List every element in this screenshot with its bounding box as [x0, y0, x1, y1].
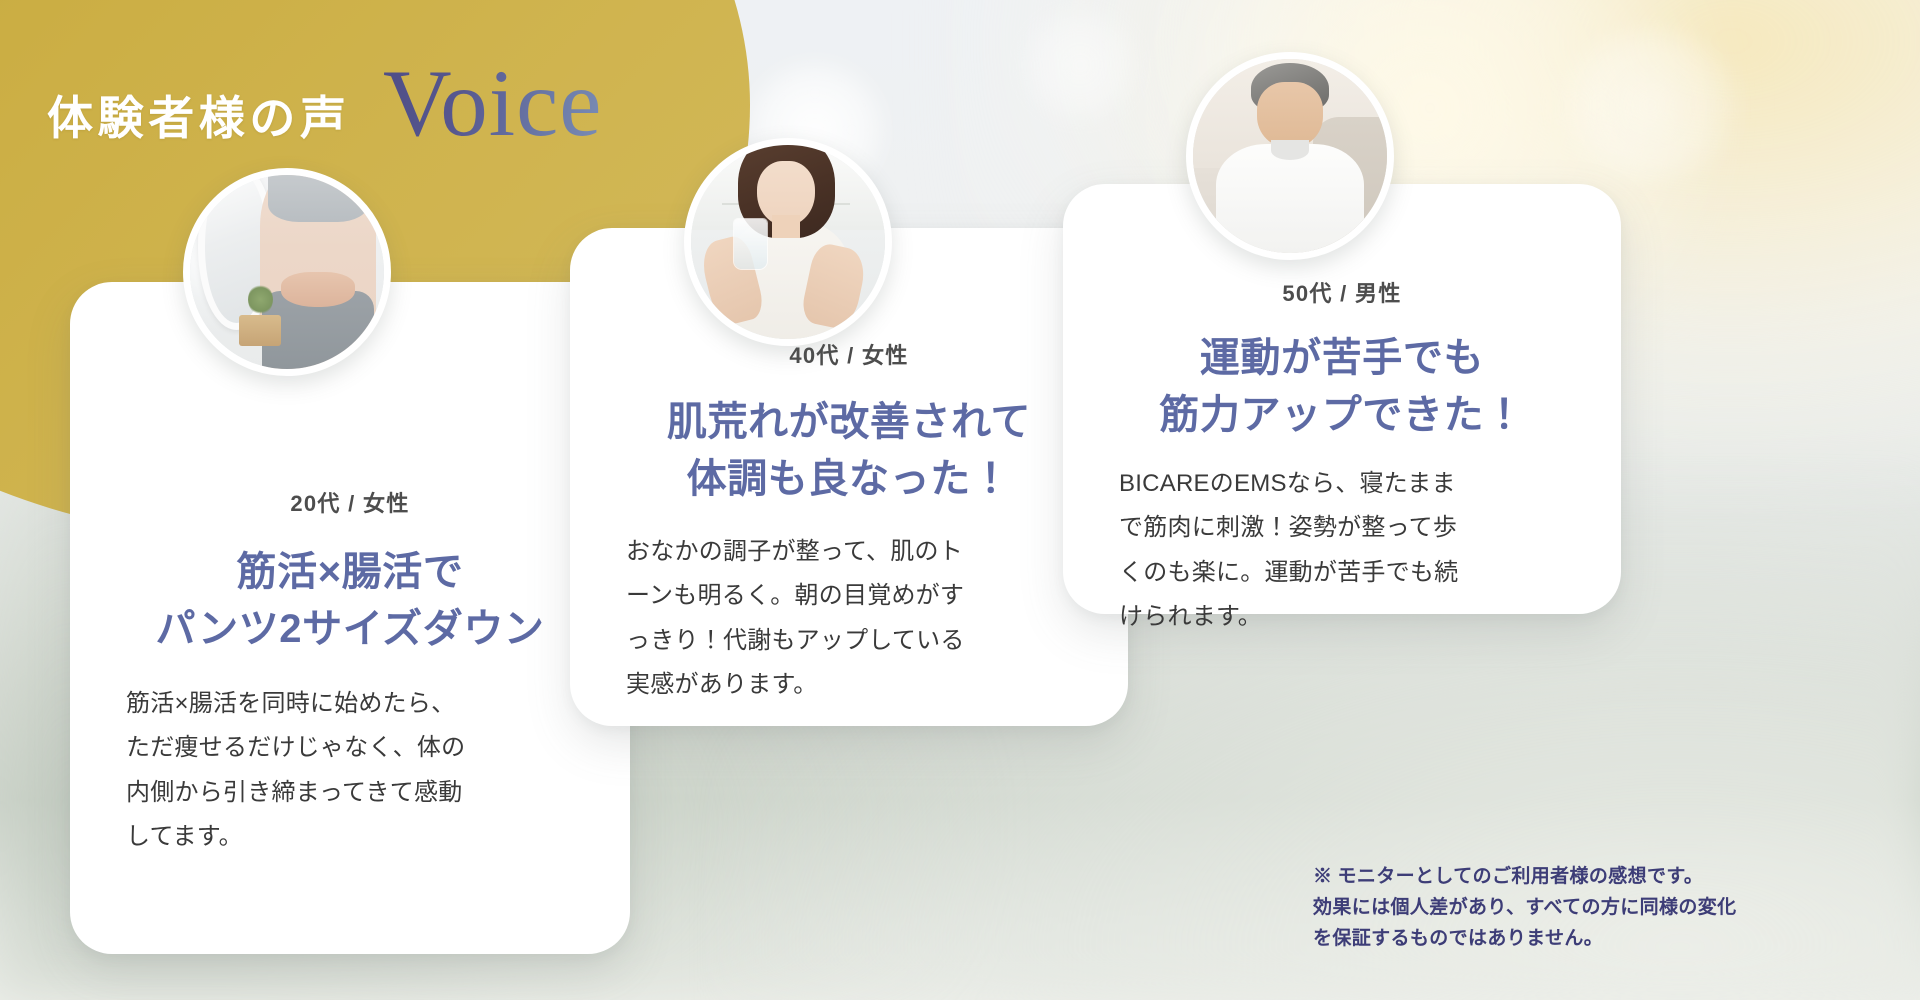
bokeh-circle-2: [1020, 10, 1140, 120]
headline-line: 筋活×腸活で: [70, 544, 630, 601]
body-line: 実感があります。: [626, 663, 1082, 707]
body-line: BICAREのEMSなら、寝たまま: [1119, 462, 1575, 506]
body-line: 内側から引き締まってきて感動: [126, 771, 584, 815]
page-title-en: Voice: [383, 56, 602, 151]
photo-detail-top: [268, 168, 369, 222]
age-gender-label: 40代 / 女性: [570, 338, 1128, 370]
photo-detail-plant: [248, 284, 273, 315]
headline-line: パンツ2サイズダウン: [70, 601, 630, 658]
headline-line: 筋力アップできた！: [1063, 387, 1621, 444]
disclaimer-line: を保証するものではありません。: [1313, 924, 1833, 955]
photo-detail-hands: [281, 272, 355, 307]
body-line: で筋肉に刺激！姿勢が整って歩: [1119, 506, 1575, 550]
bokeh-circle-3: [1560, 30, 1740, 180]
disclaimer-note: ※ モニターとしてのご利用者様の感想です。 効果には個人差があり、すべての方に同…: [1313, 862, 1833, 954]
photo-detail-table: [239, 315, 282, 346]
photo-detail-collar: [1271, 140, 1310, 159]
testimonial-body: BICAREのEMSなら、寝たまま で筋肉に刺激！姿勢が整って歩 くのも楽に。運…: [1119, 462, 1575, 640]
testimonial-card-1[interactable]: 20代 / 女性 筋活×腸活で パンツ2サイズダウン 筋活×腸活を同時に始めたら…: [70, 282, 630, 954]
age-gender-label: 50代 / 男性: [1063, 276, 1621, 308]
testimonial-body: 筋活×腸活を同時に始めたら、 ただ痩せるだけじゃなく、体の 内側から引き締まって…: [126, 682, 584, 860]
body-line: っきり！代謝もアップしている: [626, 619, 1082, 663]
photo-detail-face: [1257, 82, 1323, 148]
body-line: くのも楽に。運動が苦手でも続: [1119, 551, 1575, 595]
photo-detail-neck: [772, 215, 799, 238]
body-line: ただ痩せるだけじゃなく、体の: [126, 726, 584, 770]
headline-line: 肌荒れが改善されて: [570, 394, 1128, 451]
testimonial-headline: 肌荒れが改善されて 体調も良なった！: [570, 394, 1128, 508]
age-gender-label: 20代 / 女性: [70, 486, 630, 518]
photo-detail-shirt: [1216, 144, 1363, 260]
avatar-testimonial-3: [1186, 52, 1394, 260]
avatar-photo: [190, 175, 384, 369]
headline-line: 体調も良なった！: [570, 451, 1128, 508]
testimonial-headline: 運動が苦手でも 筋力アップできた！: [1063, 330, 1621, 444]
body-line: おなかの調子が整って、肌のト: [626, 530, 1082, 574]
headline-line: 運動が苦手でも: [1063, 330, 1621, 387]
avatar-photo: [691, 145, 885, 339]
page-title-jp: 体験者様の声: [47, 82, 351, 148]
testimonial-headline: 筋活×腸活で パンツ2サイズダウン: [70, 544, 630, 658]
avatar-photo: [1193, 59, 1387, 253]
avatar-testimonial-2: [684, 138, 892, 346]
body-line: ーンも明るく。朝の目覚めがす: [626, 574, 1082, 618]
disclaimer-line: 効果には個人差があり、すべての方に同様の変化: [1313, 893, 1833, 924]
disclaimer-line: ※ モニターとしてのご利用者様の感想です。: [1313, 862, 1833, 893]
photo-detail-glass: [734, 219, 767, 269]
body-line: けられます。: [1119, 595, 1575, 639]
body-line: してます。: [126, 815, 584, 859]
testimonial-body: おなかの調子が整って、肌のト ーンも明るく。朝の目覚めがす っきり！代謝もアップ…: [626, 530, 1082, 708]
body-line: 筋活×腸活を同時に始めたら、: [126, 682, 584, 726]
avatar-testimonial-1: [183, 168, 391, 376]
